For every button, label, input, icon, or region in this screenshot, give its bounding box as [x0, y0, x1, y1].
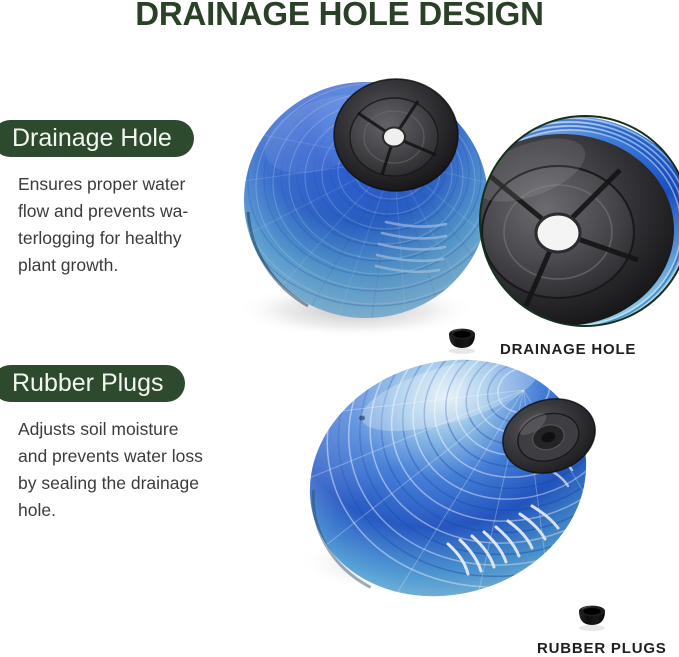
feature-description-drainage-hole: Ensures proper water flow and prevents w…: [18, 171, 233, 279]
page-title: DRAINAGE HOLE DESIGN: [0, 0, 679, 33]
infographic-canvas: DRAINAGE HOLE DESIGN: [0, 0, 679, 657]
feature-description-line: plant growth.: [18, 252, 233, 279]
feature-description-line: and prevents water loss: [18, 443, 233, 470]
rubber-plug-icon: [444, 325, 480, 360]
caption-drainage-hole: DRAINAGE HOLE: [500, 341, 636, 358]
rubber-plug-icon: [574, 602, 610, 637]
caption-rubber-plugs: RUBBER PLUGS: [537, 640, 667, 657]
feature-description-rubber-plugs: Adjusts soil moisture and prevents water…: [18, 416, 233, 524]
feature-description-line: Adjusts soil moisture: [18, 416, 233, 443]
feature-description-line: Ensures proper water: [18, 171, 233, 198]
feature-description-line: hole.: [18, 497, 233, 524]
feature-badge-drainage-hole: Drainage Hole: [0, 120, 194, 157]
ceramic-planter-bowl-inverted: [236, 72, 506, 352]
magnified-drainage-hole-circle: [470, 110, 679, 337]
feature-description-line: terlogging for healthy: [18, 225, 233, 252]
feature-badge-rubber-plugs: Rubber Plugs: [0, 365, 185, 402]
ceramic-planter-bowl-tilted: [300, 358, 600, 608]
feature-block-drainage-hole: Drainage Hole Ensures proper water flow …: [0, 120, 233, 279]
feature-description-line: flow and prevents wa-: [18, 198, 233, 225]
feature-description-line: by sealing the drainage: [18, 470, 233, 497]
feature-block-rubber-plugs: Rubber Plugs Adjusts soil moisture and p…: [0, 365, 233, 524]
